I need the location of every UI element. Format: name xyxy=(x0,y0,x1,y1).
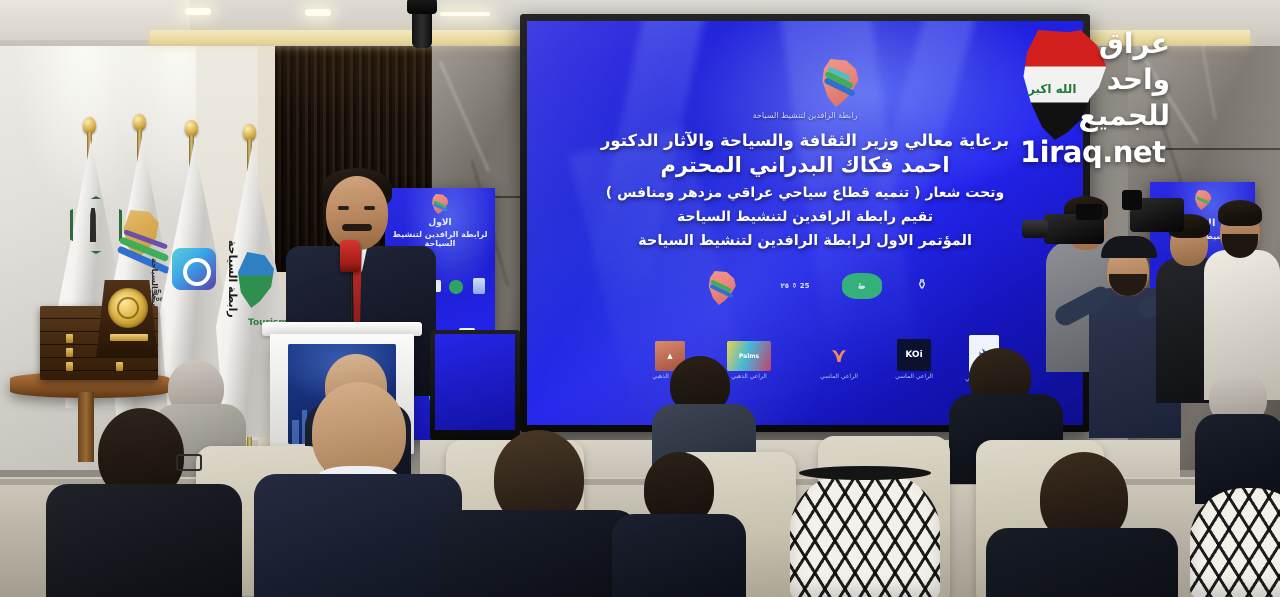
screen-sponsor-r2-3-caption: الراعي الماسي xyxy=(820,373,858,380)
audience-front-4-keffiyeh-band xyxy=(799,466,931,480)
press-2-cap xyxy=(1101,236,1157,258)
audience-front-3-body xyxy=(442,510,638,597)
speaker-mustache xyxy=(342,224,372,231)
press-4-hair xyxy=(1218,200,1262,226)
screen-sponsor-r1-3: 🦢 xyxy=(842,273,882,299)
press-3-camera-hood xyxy=(1122,190,1142,210)
audience-member-front-7 xyxy=(618,452,738,597)
screen-line-5: المؤتمر الاول لرابطة الرافدين لتنشيط الس… xyxy=(527,233,1083,249)
screen-sponsor-r1-4: ⚱ xyxy=(909,269,935,301)
screen-line-2: احمد فكاك البدراني المحترم xyxy=(527,153,1083,177)
screen-line-4: تقيم رابطة الرافدين لتنشيط السياحة xyxy=(527,209,1083,225)
audience-member-back-5 xyxy=(1195,370,1280,480)
conference-photo: رابطة الرافدين لتنشيط السياحة Mesopotami… xyxy=(0,0,1280,597)
audience-front-2-body xyxy=(254,474,462,597)
audience-member-front-3 xyxy=(448,430,628,597)
screen-association-logo xyxy=(820,59,860,107)
speaker-eye-right xyxy=(364,206,375,210)
screen-sponsor-r1-2: ٢٥ ⚱ 25 xyxy=(772,273,818,299)
audience-member-front-2 xyxy=(262,382,452,597)
watermark-line-2: واحد xyxy=(1107,66,1170,95)
watermark-1iraq: الله اكبر عراق واحد للجميع 1iraq.net xyxy=(1008,22,1278,174)
press-photographer-4 xyxy=(1200,196,1280,396)
speaker-eye-left xyxy=(338,206,349,210)
screen-sponsor-r1-1 xyxy=(707,271,737,305)
rollup-left-sp-4 xyxy=(473,278,485,294)
speaker-head xyxy=(326,176,388,250)
watermark-takbir-text: الله اكبر xyxy=(1028,82,1076,96)
ceiling-spotlight-fixture xyxy=(412,8,432,48)
screen-line-1: برعاية معالي وزير الثقافة والسياحة والآث… xyxy=(527,131,1083,150)
audience-member-front-4 xyxy=(780,470,950,597)
ceiling-downlight-3 xyxy=(440,12,490,16)
screen-sponsor-r2-4: KOi الراعي الماسي xyxy=(897,339,931,371)
audience-front-5-body xyxy=(986,528,1178,597)
audience-front-1-body xyxy=(46,484,242,597)
screen-line-3: وتحت شعار ( تنميه قطاع سياحي عراقي مزدهر… xyxy=(527,185,1083,201)
press-1-camera-lens xyxy=(1022,220,1048,238)
audience-member-back-3 xyxy=(660,356,750,456)
watermark-url: 1iraq.net xyxy=(1020,135,1165,169)
flag-3-emblem-q xyxy=(172,248,216,290)
screen-org-caption: رابطة الرافدين لتنشيط السياحة xyxy=(527,111,1083,120)
audience-front-1-glasses xyxy=(176,454,202,471)
award-trophy-medallion xyxy=(108,288,148,328)
screen-sponsor-r2-4-caption: الراعي الماسي xyxy=(895,373,933,380)
screen-sponsor-r2-3: ⋎ الراعي الماسي xyxy=(825,339,853,371)
audience-front-7-body xyxy=(612,514,746,597)
audience-front-6-keffiyeh xyxy=(1190,488,1280,597)
flag-4-label-ar: رابطة السياحة xyxy=(226,240,239,318)
press-1-camera-hood xyxy=(1076,204,1102,220)
microphone-head xyxy=(340,240,360,272)
audience-member-front-1 xyxy=(50,408,230,597)
audience-front-4-keffiyeh xyxy=(790,470,940,597)
audience-member-front-6 xyxy=(1180,478,1280,597)
watermark-line-1: عراق xyxy=(1099,30,1170,59)
rollup-left-sp-3 xyxy=(449,280,463,294)
watermark-line-3: للجميع xyxy=(1079,102,1170,131)
award-trophy-nameplate xyxy=(110,334,148,341)
audience-member-front-5 xyxy=(990,452,1170,597)
